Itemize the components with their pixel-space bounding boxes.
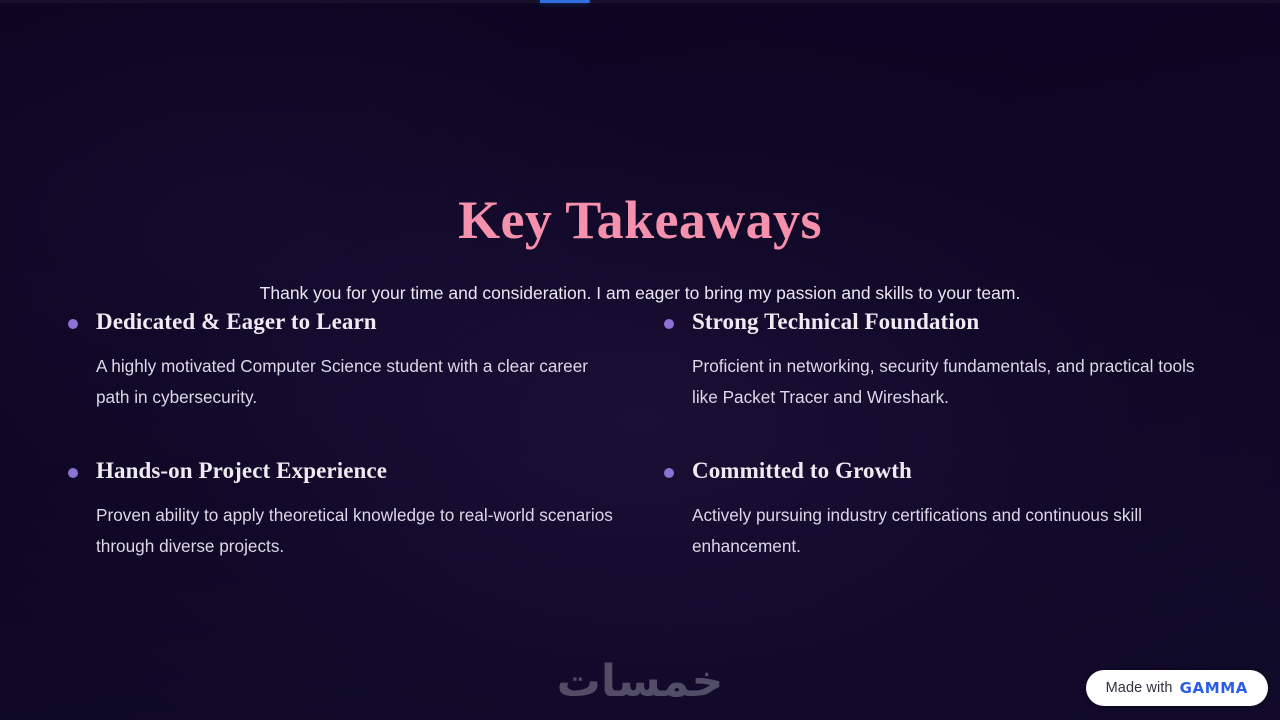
- bullet-dot-icon: [664, 468, 674, 478]
- list-item: Dedicated & Eager to Learn A highly moti…: [60, 308, 644, 413]
- takeaways-grid: Dedicated & Eager to Learn A highly moti…: [60, 308, 1240, 563]
- bullet-dot-icon: [68, 468, 78, 478]
- bullet-dot-icon: [664, 319, 674, 329]
- presentation-slide: Key Takeaways Thank you for your time an…: [0, 0, 1280, 720]
- gamma-wordmark: GAMMA: [1180, 679, 1248, 697]
- list-item-body: Proficient in networking, security funda…: [692, 351, 1222, 414]
- slide-progress-fill: [540, 0, 590, 3]
- list-item-heading: Committed to Growth: [692, 457, 1240, 486]
- made-with-gamma-badge[interactable]: Made with GAMMA: [1086, 670, 1268, 706]
- list-item-heading: Strong Technical Foundation: [692, 308, 1240, 337]
- bullet-dot-icon: [68, 319, 78, 329]
- slide-progress-track[interactable]: [0, 0, 1280, 3]
- list-item-body: A highly motivated Computer Science stud…: [96, 351, 626, 414]
- list-item-heading: Dedicated & Eager to Learn: [96, 308, 644, 337]
- list-item-heading: Hands-on Project Experience: [96, 457, 644, 486]
- slide-subtitle: Thank you for your time and consideratio…: [0, 281, 1280, 306]
- made-with-label: Made with: [1106, 680, 1173, 696]
- list-item-body: Actively pursuing industry certification…: [692, 500, 1222, 563]
- list-item: Hands-on Project Experience Proven abili…: [60, 457, 644, 562]
- page-title: Key Takeaways: [0, 191, 1280, 250]
- list-item-body: Proven ability to apply theoretical know…: [96, 500, 626, 563]
- list-item: Strong Technical Foundation Proficient i…: [656, 308, 1240, 413]
- list-item: Committed to Growth Actively pursuing in…: [656, 457, 1240, 562]
